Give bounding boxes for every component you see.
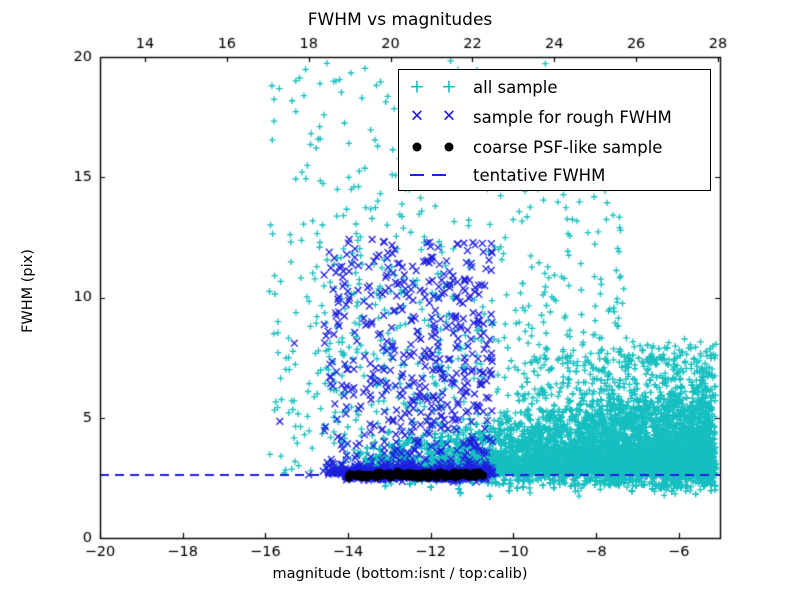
dashed-line-icon [410,174,424,176]
figure-canvas-container: FWHM vs magnitudes magnitude (bottom:isn… [0,0,800,600]
dot-icon [445,143,454,152]
legend[interactable]: + + all sample ✕ ✕ sample for rough FWHM… [398,69,711,191]
legend-handle-all-sample: + + [399,72,473,102]
legend-handle-psf-like [399,132,473,162]
legend-label-tentative-fwhm: tentative FWHM [473,166,605,185]
legend-entry-tentative-fwhm[interactable]: tentative FWHM [399,160,710,190]
dot-icon [413,143,422,152]
plus-icon: + [409,78,425,97]
legend-entry-rough-fwhm[interactable]: ✕ ✕ sample for rough FWHM [399,102,710,132]
cross-icon: ✕ [442,109,456,126]
legend-handle-rough-fwhm: ✕ ✕ [399,102,473,132]
dashed-line-icon [432,174,446,176]
legend-handle-tentative-fwhm [399,160,473,190]
legend-label-psf-like: coarse PSF-like sample [473,138,662,157]
legend-entry-psf-like[interactable]: coarse PSF-like sample [399,132,710,162]
cross-icon: ✕ [410,109,424,126]
legend-label-all-sample: all sample [473,78,558,97]
legend-label-rough-fwhm: sample for rough FWHM [473,108,672,127]
plus-icon: + [441,78,457,97]
legend-entry-all-sample[interactable]: + + all sample [399,72,710,102]
